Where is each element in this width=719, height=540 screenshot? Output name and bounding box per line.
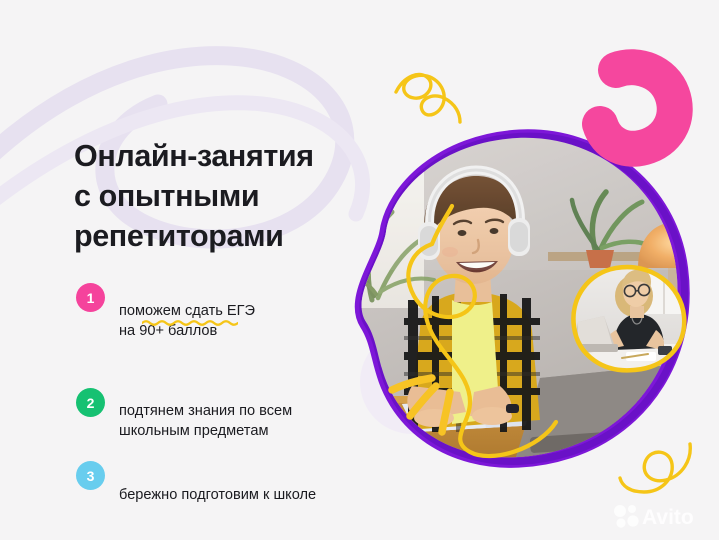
- yellow-doodle-outline: [408, 206, 556, 456]
- wavy-underline-icon: [142, 319, 238, 326]
- avito-watermark: Avito: [613, 503, 705, 529]
- feature-badge-1: 1: [76, 283, 105, 312]
- feature-text-3: бережно подготовим к школе: [119, 465, 316, 505]
- table-lamp: [638, 222, 712, 296]
- feature-list: 1 поможем сдать ЕГЭ на 90+ баллов 2 подт…: [76, 282, 406, 505]
- pink-crescent-decoration: [600, 67, 675, 148]
- page-title: Онлайн-занятия с опытными репетиторами: [74, 136, 314, 256]
- feature-label-2: подтянем знания по всем школьным предмет…: [119, 403, 292, 439]
- purple-ring-decoration: [362, 136, 684, 461]
- laptop: [512, 366, 700, 470]
- list-item: 3 бережно подготовим к школе: [76, 461, 406, 505]
- boy-figure: [404, 170, 540, 432]
- list-item: 2 подтянем знания по всем школьным предм…: [76, 381, 406, 441]
- feature-text-1: поможем сдать ЕГЭ на 90+ баллов: [119, 281, 255, 361]
- yellow-squiggle-bottom: [620, 444, 690, 492]
- feature-text-2: подтянем знания по всем школьным предмет…: [119, 381, 292, 441]
- female-tutor-figure: [603, 270, 664, 350]
- list-item: 1 поможем сдать ЕГЭ на 90+ баллов: [76, 282, 406, 361]
- feature-badge-2: 2: [76, 388, 105, 417]
- yellow-squiggle-top: [396, 74, 460, 122]
- feature-badge-3: 3: [76, 461, 105, 490]
- tutor-inset-photo: [560, 255, 700, 380]
- glasses-icon: [624, 284, 649, 296]
- avito-logo-icon: Avito: [613, 503, 705, 529]
- avito-logo-text: Avito: [642, 506, 694, 529]
- promo-banner: Онлайн-занятия с опытными репетиторами 1…: [0, 0, 719, 540]
- notebook-on-desk: [402, 398, 556, 432]
- headphones: [418, 170, 530, 260]
- feature-label-3: бережно подготовим к школе: [119, 487, 316, 503]
